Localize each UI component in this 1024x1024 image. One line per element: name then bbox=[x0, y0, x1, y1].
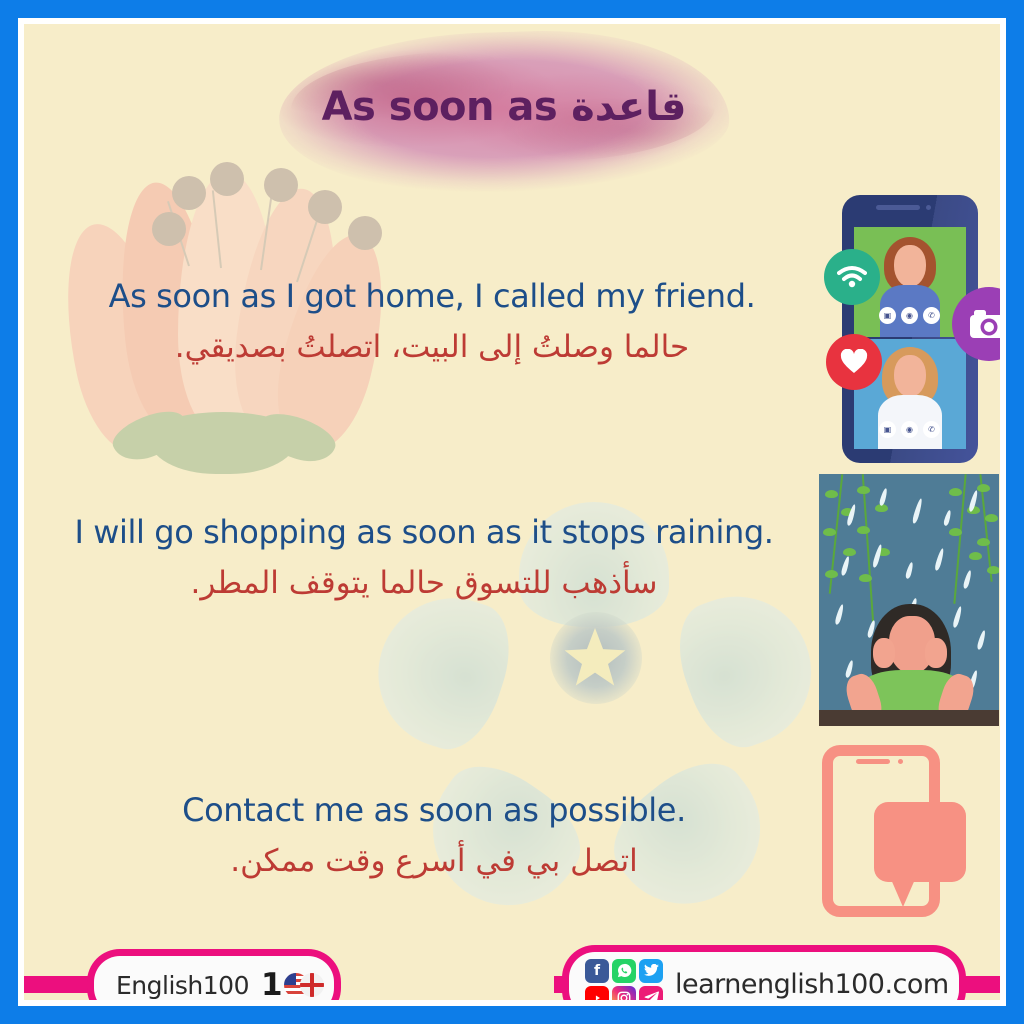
phone-speaker-icon bbox=[856, 759, 890, 764]
phone-camera-dot-icon bbox=[898, 759, 903, 764]
example-block-1: As soon as I got home, I called my frien… bbox=[52, 276, 812, 369]
wifi-icon bbox=[824, 249, 880, 305]
chat-bubble-icon bbox=[874, 802, 966, 882]
woman-left-hand bbox=[873, 638, 895, 668]
whatsapp-icon[interactable] bbox=[612, 959, 636, 983]
social-icons-group: f bbox=[585, 959, 663, 1001]
brand-name: English100 bbox=[116, 971, 249, 1000]
end-call-icon[interactable]: ✆ bbox=[923, 421, 940, 438]
video-toggle-icon[interactable]: ▣ bbox=[879, 421, 896, 438]
brand-badge[interactable]: English100 1 bbox=[94, 956, 334, 1000]
twitter-icon[interactable] bbox=[639, 959, 663, 983]
youtube-icon[interactable] bbox=[585, 986, 609, 1001]
end-call-icon[interactable]: ✆ bbox=[923, 307, 940, 324]
website-badge[interactable]: f bbox=[569, 952, 959, 1000]
poster-canvas: قاعدة As soon as As soon as I got home, … bbox=[24, 24, 1000, 1000]
english100-logo: 1 bbox=[261, 970, 324, 1001]
mic-toggle-icon[interactable]: ◉ bbox=[901, 421, 918, 438]
heart-icon bbox=[826, 334, 882, 390]
woman-right-hand bbox=[925, 638, 947, 668]
phone-speaker-icon bbox=[876, 205, 920, 210]
example-block-3: Contact me as soon as possible. اتصل بي … bbox=[64, 790, 804, 883]
example-1-arabic: حالما وصلتُ إلى البيت، اتصلتُ بصديقي. bbox=[52, 327, 812, 369]
instagram-icon[interactable] bbox=[612, 986, 636, 1001]
title-banner: قاعدة As soon as bbox=[279, 32, 729, 192]
rainy-window-illustration bbox=[819, 474, 999, 726]
example-2-english: I will go shopping as soon as it stops r… bbox=[44, 512, 804, 553]
video-toggle-icon[interactable]: ▣ bbox=[879, 307, 896, 324]
poster-root: قاعدة As soon as As soon as I got home, … bbox=[0, 0, 1024, 1024]
chat-bubble-tail bbox=[890, 877, 916, 907]
example-3-arabic: اتصل بي في أسرع وقت ممكن. bbox=[64, 841, 804, 883]
example-3-english: Contact me as soon as possible. bbox=[64, 790, 804, 831]
example-1-english: As soon as I got home, I called my frien… bbox=[52, 276, 812, 317]
website-url: learnenglish100.com bbox=[675, 969, 949, 1000]
video-call-illustration: ▣ ◉ ✆ ▣ ◉ ✆ bbox=[824, 189, 1000, 469]
window-ledge bbox=[819, 710, 999, 726]
phone-chat-illustration bbox=[814, 739, 974, 919]
facebook-icon[interactable]: f bbox=[585, 959, 609, 983]
example-block-2: I will go shopping as soon as it stops r… bbox=[44, 512, 804, 605]
phone-camera-dot-icon bbox=[926, 205, 931, 210]
telegram-icon[interactable] bbox=[639, 986, 663, 1001]
logo-digit-one: 1 bbox=[261, 970, 283, 1001]
uk-flag-icon bbox=[300, 973, 324, 997]
mic-toggle-icon[interactable]: ◉ bbox=[901, 307, 918, 324]
example-2-arabic: سأذهب للتسوق حالما يتوقف المطر. bbox=[44, 563, 804, 605]
page-title: قاعدة As soon as bbox=[279, 84, 729, 130]
